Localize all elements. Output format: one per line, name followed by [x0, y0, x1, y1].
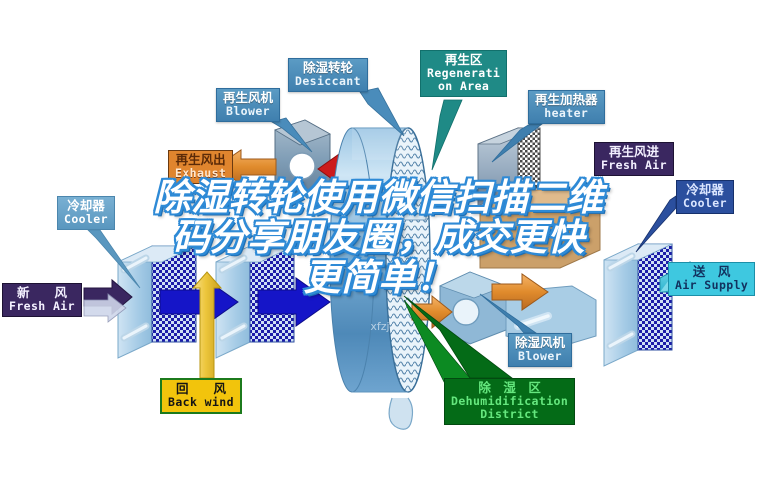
- label-dehumidify-blower[interactable]: 除湿风机 Blower: [508, 333, 572, 367]
- label-regeneration-exhaust-cn: 再生风出: [175, 153, 226, 167]
- label-cooler-right[interactable]: 冷却器 Cooler: [676, 180, 734, 214]
- label-regeneration-area-cn: 再生区: [427, 53, 500, 67]
- label-regeneration-blower[interactable]: 再生风机 Blower: [216, 88, 280, 122]
- label-dehumidification-district[interactable]: 除 湿 区 Dehumidification District: [444, 378, 575, 425]
- label-back-wind-cn: 回 风: [168, 382, 234, 396]
- regen-duct: [480, 190, 602, 268]
- label-desiccant-rotor-cn: 除湿转轮: [295, 61, 361, 75]
- label-regeneration-area-en-line2: on Area: [427, 80, 500, 93]
- label-air-supply[interactable]: 送 风 Air Supply: [668, 262, 755, 296]
- label-dehumidification-district-en-line2: District: [451, 408, 568, 421]
- label-regeneration-heater-cn: 再生加热器: [535, 93, 598, 107]
- label-regeneration-fresh-air-in-en: Fresh Air: [601, 159, 667, 172]
- label-fresh-air-in-cn: 新 风: [9, 286, 75, 300]
- label-regeneration-blower-cn: 再生风机: [223, 91, 273, 105]
- label-cooler-left[interactable]: 冷却器 Cooler: [57, 196, 115, 230]
- label-regeneration-fresh-air-in-cn: 再生风进: [601, 145, 667, 159]
- label-regeneration-fresh-air-in[interactable]: 再生风进 Fresh Air: [594, 142, 674, 176]
- svg-text:xfzj: xfzj: [370, 320, 389, 333]
- diagram-canvas: xfzj: [0, 0, 757, 488]
- label-cooler-left-cn: 冷却器: [64, 199, 108, 213]
- label-regeneration-exhaust[interactable]: 再生风出 Exhaust: [168, 150, 233, 184]
- diagram-svg: xfzj: [0, 0, 757, 488]
- label-regeneration-exhaust-en: Exhaust: [175, 167, 226, 180]
- rotor-drum: xfzj: [330, 128, 430, 429]
- label-cooler-right-en: Cooler: [683, 197, 727, 210]
- label-desiccant-rotor[interactable]: 除湿转轮 Desiccant: [288, 58, 368, 92]
- label-regeneration-area[interactable]: 再生区 Regenerati on Area: [420, 50, 507, 97]
- label-air-supply-en: Air Supply: [675, 279, 748, 292]
- label-regeneration-area-en-line1: Regenerati: [427, 67, 500, 80]
- right-coil-block: [604, 244, 672, 366]
- label-dehumidification-district-en-line1: Dehumidification: [451, 395, 568, 408]
- label-dehumidification-district-cn: 除 湿 区: [451, 381, 568, 395]
- label-back-wind-en: Back wind: [168, 396, 234, 409]
- regen-blower-unit: [275, 120, 330, 196]
- label-regeneration-heater[interactable]: 再生加热器 heater: [528, 90, 605, 124]
- label-desiccant-rotor-en: Desiccant: [295, 75, 361, 88]
- label-dehumidify-blower-en: Blower: [515, 350, 565, 363]
- label-fresh-air-in[interactable]: 新 风 Fresh Air: [2, 283, 82, 317]
- label-back-wind[interactable]: 回 风 Back wind: [160, 378, 242, 414]
- label-cooler-left-en: Cooler: [64, 213, 108, 226]
- label-cooler-right-cn: 冷却器: [683, 183, 727, 197]
- label-regeneration-blower-en: Blower: [223, 105, 273, 118]
- label-air-supply-cn: 送 风: [675, 265, 748, 279]
- label-fresh-air-in-en: Fresh Air: [9, 300, 75, 313]
- label-regeneration-heater-en: heater: [535, 107, 598, 120]
- label-dehumidify-blower-cn: 除湿风机: [515, 336, 565, 350]
